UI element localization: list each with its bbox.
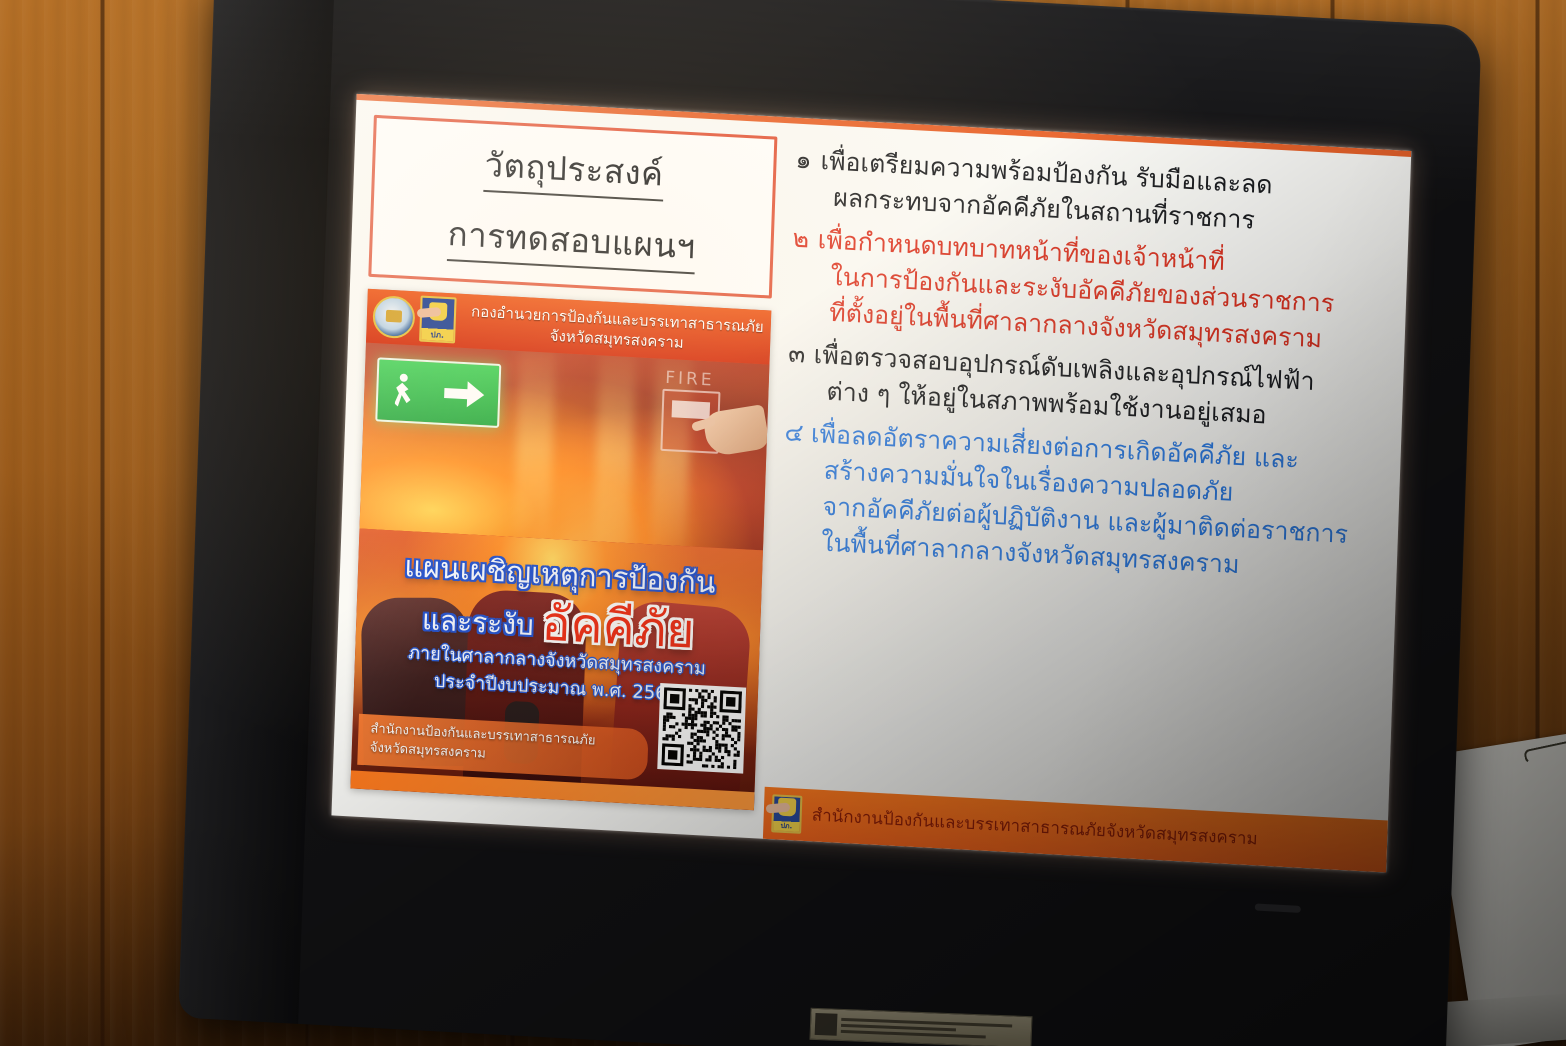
scene-lighting-vignette — [0, 0, 1566, 1046]
room-scene: วัตถุประสงค์ การทดสอบแผนฯ ปภ. กองอำนวยกา… — [0, 0, 1566, 1046]
